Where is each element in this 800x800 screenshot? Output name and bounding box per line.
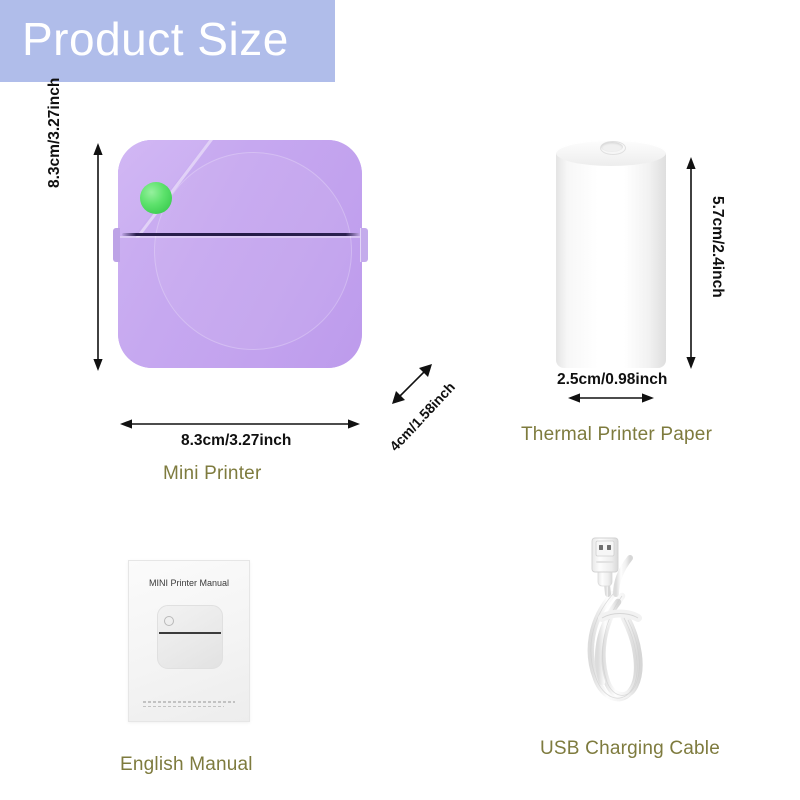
english-manual-label: English Manual	[120, 754, 253, 776]
manual-figure-slot	[159, 632, 221, 634]
usb-cable-illustration	[572, 532, 668, 722]
manual-printer-figure-icon	[157, 605, 223, 669]
paper-height-arrow	[685, 157, 697, 369]
manual-fine-print-line	[143, 706, 224, 708]
printer-body	[118, 140, 362, 368]
manual-figure-power-icon	[164, 616, 174, 626]
paper-height-label: 5.7cm/2.4inch	[708, 196, 726, 298]
printer-circle-detail	[154, 152, 352, 350]
mini-printer-illustration	[118, 140, 364, 370]
paper-diameter-label: 2.5cm/0.98inch	[557, 371, 667, 389]
product-size-infographic: Product Size 8.3cm/3.27inch 8.3c	[0, 0, 800, 800]
usb-cable-label: USB Charging Cable	[540, 738, 720, 760]
page-title: Product Size	[22, 8, 289, 70]
usb-cable-icon	[572, 532, 668, 722]
paper-roll-body	[556, 152, 666, 368]
manual-illustration: MINI Printer Manual	[128, 560, 250, 722]
manual-cover-title: MINI Printer Manual	[129, 578, 249, 588]
manual-fine-print-line	[143, 701, 235, 703]
printer-side-tab-right	[360, 228, 368, 262]
printer-width-arrow	[120, 418, 360, 430]
printer-seam	[118, 236, 362, 238]
printer-width-label: 8.3cm/3.27inch	[181, 432, 291, 450]
printer-side-tab-left	[113, 228, 120, 262]
manual-fine-print	[143, 701, 235, 710]
power-button-icon	[140, 182, 172, 214]
manual-cover: MINI Printer Manual	[128, 560, 250, 722]
paper-diameter-arrow	[568, 392, 654, 404]
mini-printer-label: Mini Printer	[163, 463, 261, 485]
thermal-paper-label: Thermal Printer Paper	[521, 424, 712, 446]
paper-roll-core-icon	[601, 142, 623, 152]
header-banner: Product Size	[0, 0, 335, 82]
thermal-paper-roll-illustration	[556, 140, 668, 370]
printer-height-label: 8.3cm/3.27inch	[46, 78, 64, 188]
printer-height-arrow	[92, 143, 104, 371]
paper-slot-icon	[122, 233, 360, 236]
